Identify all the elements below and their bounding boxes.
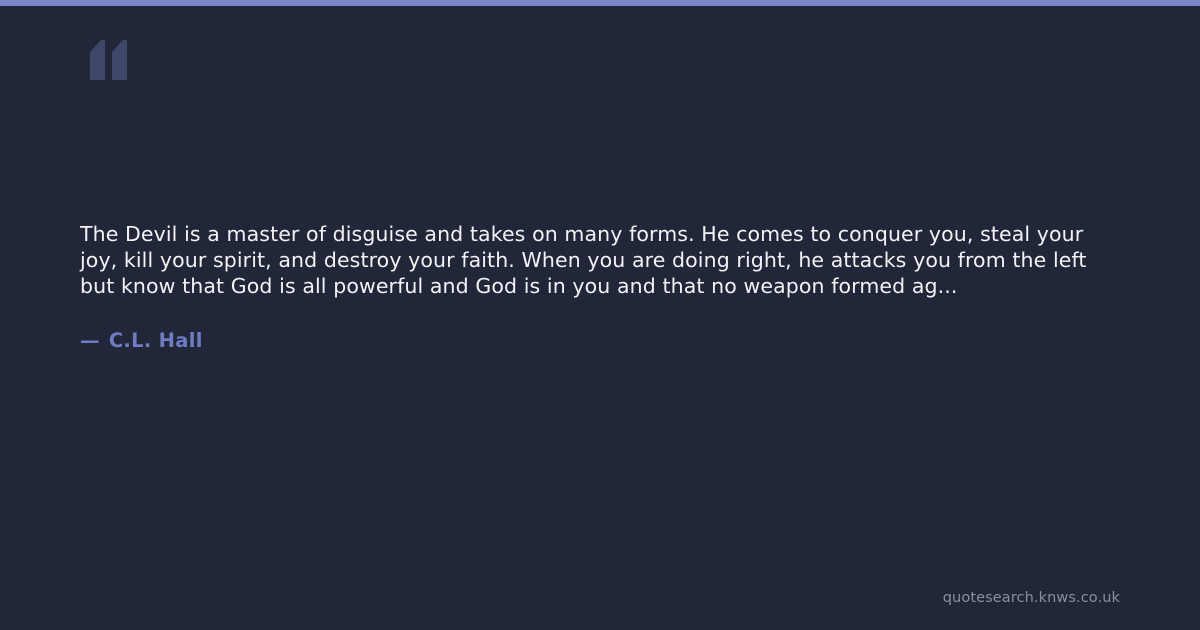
- quote-content: The Devil is a master of disguise and ta…: [80, 222, 1124, 352]
- attribution-dash: —: [80, 329, 100, 352]
- quote-attribution: — C.L. Hall: [80, 329, 1124, 352]
- attribution-author: C.L. Hall: [109, 329, 203, 352]
- quote-card: The Devil is a master of disguise and ta…: [0, 0, 1200, 630]
- top-accent-bar: [0, 0, 1200, 6]
- source-url-label: quotesearch.knws.co.uk: [943, 590, 1120, 606]
- left-double-quotation-mark-icon: [80, 40, 132, 80]
- quote-text: The Devil is a master of disguise and ta…: [80, 222, 1124, 299]
